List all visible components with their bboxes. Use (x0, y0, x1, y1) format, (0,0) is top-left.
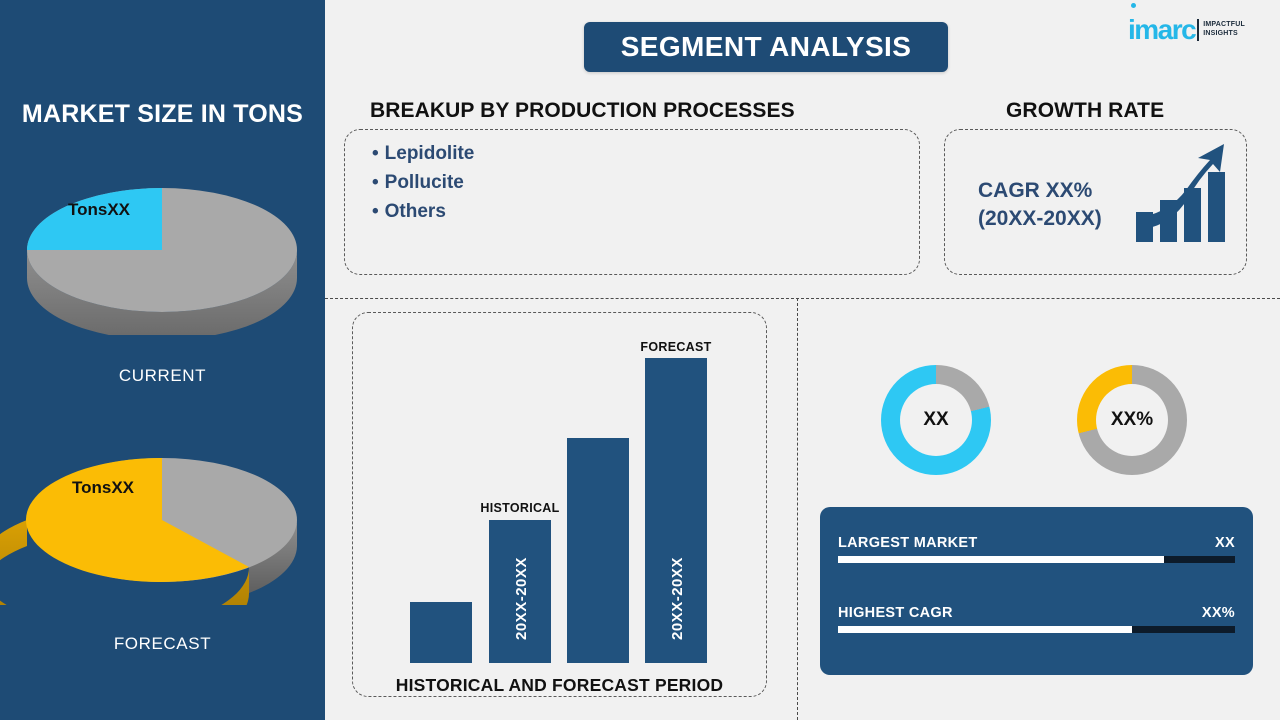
sidebar-title: MARKET SIZE IN TONS (0, 100, 325, 129)
key-stats-panel: LARGEST MARKET XX HIGHEST CAGR XX% (820, 507, 1253, 675)
logo-tagline-line1: IMPACTFUL (1203, 21, 1245, 30)
stat-largest-market-label: LARGEST MARKET (838, 535, 978, 551)
cagr-text: CAGR XX% (20XX-20XX) (978, 177, 1102, 234)
stat-largest-market-fill (838, 556, 1164, 563)
stat-highest-cagr-label: HIGHEST CAGR (838, 605, 953, 621)
stat-highest-cagr-track (838, 626, 1235, 633)
stat-highest-cagr-value: XX% (1202, 605, 1235, 621)
list-item: •Lepidolite (372, 140, 474, 169)
forecast-pie-chart (0, 430, 325, 605)
highest-cagr-donut-center: XX% (1096, 384, 1168, 456)
breakup-heading: BREAKUP BY PRODUCTION PROCESSES (370, 99, 795, 123)
growth-arrow-bars-icon (1128, 140, 1228, 250)
stat-largest-market: LARGEST MARKET XX (838, 529, 1235, 563)
bar-2 (567, 438, 629, 663)
logo-tagline: IMPACTFUL INSIGHTS (1203, 21, 1245, 39)
bullet-icon: • (372, 143, 379, 164)
historical-annotation: HISTORICAL (470, 501, 570, 515)
page-title-badge: SEGMENT ANALYSIS (584, 22, 948, 72)
vertical-divider (797, 298, 798, 720)
highest-cagr-donut-value: XX% (1111, 409, 1153, 431)
largest-market-donut-value: XX (923, 409, 948, 431)
bullet-icon: • (372, 172, 379, 193)
stat-largest-market-track (838, 556, 1235, 563)
imarc-logo: imarc IMPACTFUL INSIGHTS (1128, 10, 1245, 50)
highest-cagr-donut: XX% (1077, 365, 1187, 475)
growth-heading: GROWTH RATE (1006, 99, 1164, 123)
bar-1-label: 20XX-20XX (513, 557, 530, 640)
breakup-list: •Lepidolite •Pollucite •Others (372, 140, 474, 227)
largest-market-donut-center: XX (900, 384, 972, 456)
forecast-pie-caption: FORECAST (0, 634, 325, 654)
largest-market-donut: XX (881, 365, 991, 475)
logo-dot-icon (1131, 3, 1136, 8)
sidebar-panel: MARKET SIZE IN TONS TonsXX CURRENT (0, 0, 325, 720)
stat-highest-cagr: HIGHEST CAGR XX% (838, 599, 1235, 633)
forecast-pie-block: TonsXX FORECAST (0, 430, 325, 654)
bar-3-label: 20XX-20XX (669, 557, 686, 640)
logo-tagline-line2: INSIGHTS (1203, 30, 1245, 39)
imarc-wordmark: imarc (1128, 16, 1195, 44)
cagr-period: (20XX-20XX) (978, 205, 1102, 233)
stat-highest-cagr-fill (838, 626, 1132, 633)
list-item: •Others (372, 198, 474, 227)
horizontal-divider (325, 298, 1280, 299)
cagr-value: CAGR XX% (978, 177, 1102, 205)
list-item: •Pollucite (372, 169, 474, 198)
page-title: SEGMENT ANALYSIS (621, 31, 912, 63)
bar-chart-caption: HISTORICAL AND FORECAST PERIOD (352, 675, 767, 696)
logo-divider-icon (1197, 19, 1199, 41)
stat-largest-market-value: XX (1215, 535, 1235, 551)
infographic-root: MARKET SIZE IN TONS TonsXX CURRENT (0, 0, 1280, 720)
current-pie-block: TonsXX CURRENT (0, 160, 325, 386)
forecast-annotation: FORECAST (626, 340, 726, 354)
current-pie-caption: CURRENT (0, 366, 325, 386)
current-pie-chart (0, 160, 325, 335)
bullet-icon: • (372, 201, 379, 222)
bar-0 (410, 602, 472, 663)
